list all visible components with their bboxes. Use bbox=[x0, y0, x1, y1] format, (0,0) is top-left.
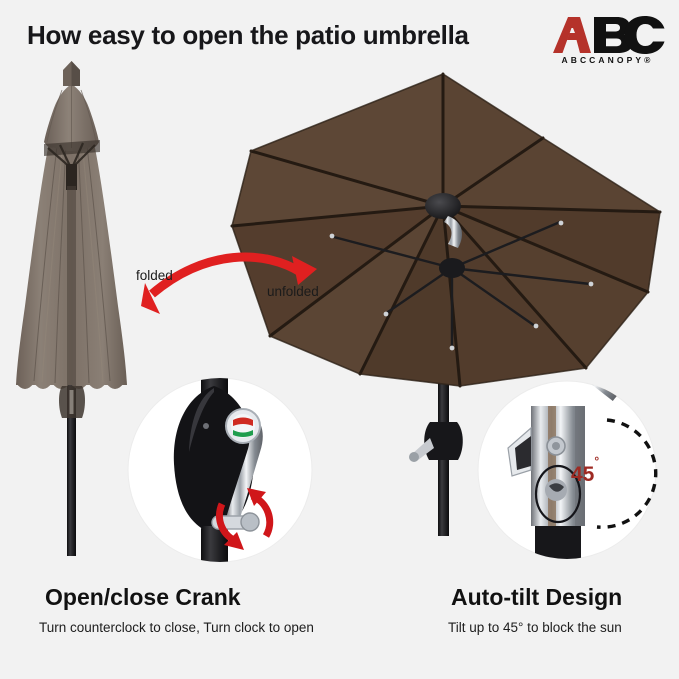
canopy-runner bbox=[439, 258, 465, 278]
umbrella-scene bbox=[0, 56, 679, 576]
feature-subtitle-crank: Turn counterclock to close, Turn clock t… bbox=[39, 620, 314, 635]
feature-title-crank: Open/close Crank bbox=[45, 584, 241, 611]
label-unfolded: unfolded bbox=[267, 284, 319, 299]
product-illustration bbox=[0, 56, 679, 576]
tilt-angle-label: 45° bbox=[571, 462, 599, 487]
infographic-page: How easy to open the patio umbrella ABCC… bbox=[0, 0, 679, 679]
folded-umbrella bbox=[16, 61, 127, 556]
label-folded: folded bbox=[136, 268, 173, 283]
feature-title-tilt: Auto-tilt Design bbox=[451, 584, 622, 611]
abc-logo-icon bbox=[547, 16, 665, 54]
tilt-angle-value: 45 bbox=[571, 463, 594, 486]
feature-subtitle-tilt: Tilt up to 45° to block the sun bbox=[448, 620, 622, 635]
canopy-hub bbox=[425, 193, 461, 219]
degree-symbol: ° bbox=[594, 454, 599, 468]
page-title: How easy to open the patio umbrella bbox=[27, 20, 469, 51]
crank-detail-circle bbox=[128, 356, 312, 576]
pole-crank-housing bbox=[409, 422, 463, 462]
